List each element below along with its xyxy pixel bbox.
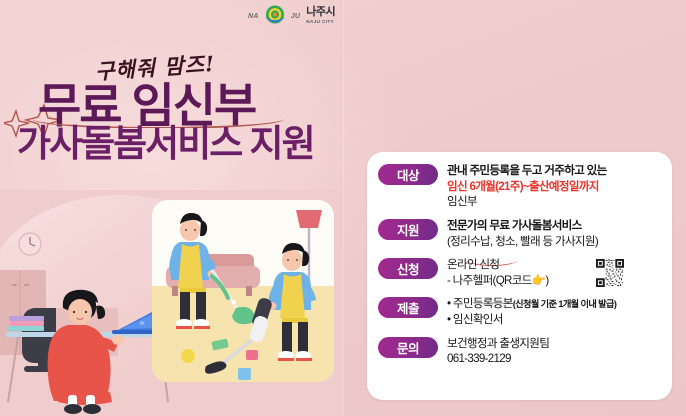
logo-city-name: 나주시 NAJU CITY	[306, 7, 335, 24]
naju-city-emblem	[263, 4, 287, 28]
jechul-doc-main: • 주민등록등본	[447, 297, 513, 310]
info-body-munui: 보건행정과 출생지원팀 061-339-2129	[447, 336, 663, 367]
daesang-line-2: 임신 6개월(21주)~출산예정일까지	[447, 179, 663, 195]
info-card: 대상 관내 주민등록을 두고 거주하고 있는 임신 6개월(21주)~출산예정일…	[367, 152, 672, 400]
jiwon-line-2: (정리수납, 청소, 빨래 등 가사지원)	[447, 234, 663, 250]
home-care-service-illustration	[0, 190, 343, 416]
jechul-line-2: • 임신확인서	[447, 312, 663, 328]
info-body-jechul: • 주민등록등본(신청월 기준 1개월 이내 발급) • 임신확인서	[447, 296, 663, 327]
info-label-sincheong: 신청	[378, 258, 438, 279]
logo-city-kr: 나주시	[306, 7, 335, 18]
logo-na-text: NA	[248, 13, 259, 20]
daesang-line-1: 관내 주민등록을 두고 거주하고 있는	[447, 163, 663, 179]
info-body-jiwon: 전문가의 무료 가사돌봄서비스 (정리수납, 청소, 빨래 등 가사지원)	[447, 218, 663, 249]
qr-code[interactable]	[595, 258, 625, 288]
headline-line2-left: 가사돌봄서비스 지원	[17, 125, 314, 162]
logo-ju-text: JU	[291, 13, 301, 20]
munui-phone[interactable]: 061-339-2129	[447, 351, 663, 367]
naju-city-logo: NA JU 나주시 NAJU CITY	[248, 4, 335, 28]
logo-city-en: NAJU CITY	[306, 20, 335, 25]
info-label-daesang: 대상	[378, 164, 438, 185]
info-row-jiwon: 지원 전문가의 무료 가사돌봄서비스 (정리수납, 청소, 빨래 등 가사지원)	[378, 218, 663, 249]
info-label-jechul: 제출	[378, 297, 438, 318]
jechul-line-1: • 주민등록등본(신청월 기준 1개월 이내 발급)	[447, 296, 663, 312]
info-row-sincheong: 신청 온라인 신청 - 나주헬퍼(QR코드👉)	[378, 257, 663, 288]
info-label-munui: 문의	[378, 337, 438, 358]
info-row-daesang: 대상 관내 주민등록을 두고 거주하고 있는 임신 6개월(21주)~출산예정일…	[378, 163, 663, 210]
info-row-jechul: 제출 • 주민등록등본(신청월 기준 1개월 이내 발급) • 임신확인서	[378, 296, 663, 327]
poster-root: NA JU 나주시 NAJU CITY 구해줘 맘즈! 무료 임신부	[0, 0, 686, 416]
panel-left: NA JU 나주시 NAJU CITY 구해줘 맘즈! 무료 임신부	[0, 0, 343, 416]
info-row-munui: 문의 보건행정과 출생지원팀 061-339-2129	[378, 336, 663, 367]
sincheong-line-2: - 나주헬퍼(QR코드👉)	[447, 273, 663, 289]
munui-team: 보건행정과 출생지원팀	[447, 336, 663, 352]
daesang-line-3: 임신부	[447, 194, 663, 210]
sincheong-line-1: 온라인 신청	[447, 257, 663, 273]
jechul-doc-note: (신청월 기준 1개월 이내 발급)	[513, 299, 617, 309]
info-body-sincheong: 온라인 신청 - 나주헬퍼(QR코드👉)	[447, 257, 663, 288]
info-label-jiwon: 지원	[378, 219, 438, 240]
info-body-daesang: 관내 주민등록을 두고 거주하고 있는 임신 6개월(21주)~출산예정일까지 …	[447, 163, 663, 210]
jiwon-line-1: 전문가의 무료 가사돌봄서비스	[447, 218, 663, 234]
